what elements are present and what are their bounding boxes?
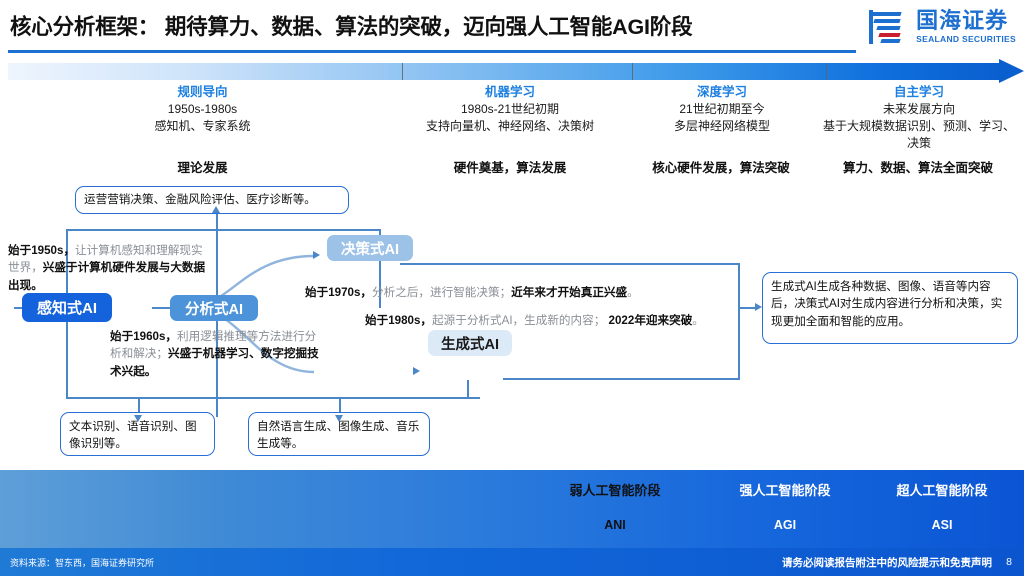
timeline-name-3: 自主学习 [820, 84, 1018, 101]
branch-curves-icon [186, 242, 376, 412]
logo-text-en: SEALAND SECURITIES [916, 35, 1016, 44]
timeline-bold-0: 理论发展 [95, 157, 310, 176]
note-analytic-ai: 始于1960s，利用逻辑推理等方法进行分析和解决；兴盛于机器学习、数字挖掘技术兴… [110, 328, 325, 380]
stage-abbr-0: ANI [520, 517, 710, 533]
logo-text-cn: 国海证券 [916, 10, 1016, 32]
timeline-column-2: 深度学习 21世纪初期至今 多层神经网络模型 [627, 84, 817, 135]
page-title: 核心分析框架： 期待算力、数据、算法的突破，迈向强人工智能AGI阶段 [10, 10, 692, 41]
node-generative-ai[interactable]: 生成式AI [428, 330, 512, 356]
arrow-up-icon [212, 206, 220, 213]
timeline-desc-3: 基于大规模数据识别、预测、学习、决策 [820, 118, 1018, 152]
timeline-tick-1 [402, 63, 403, 80]
arrow-down-icon [134, 415, 142, 422]
timeline-arrow-head-icon [999, 59, 1024, 83]
node-label: 生成式AI [441, 333, 499, 354]
timeline-bold-1: 硬件奠基，算法发展 [395, 157, 625, 176]
timeline-name-2: 深度学习 [627, 84, 817, 101]
note-perceptive-ai: 始于1950s，让计算机感知和理解现实世界，兴盛于计算机硬件发展与大数据出现。 [8, 242, 213, 294]
logo-mark-icon [869, 8, 909, 46]
arrow-right-icon [413, 367, 420, 375]
connector-line [467, 380, 469, 398]
timeline-tick-3 [826, 63, 827, 80]
note-bold-1: 始于1970s， [305, 286, 372, 299]
timeline-desc-1: 支持向量机、神经网络、决策树 [395, 118, 625, 135]
page-footer: 资料来源：智东西，国海证券研究所 请务必阅读报告附注中的风险提示和免责声明 8 [0, 548, 1024, 576]
footer-source: 资料来源：智东西，国海证券研究所 [10, 556, 154, 569]
note-bold-1: 始于1950s， [8, 244, 75, 257]
callout-text: 文本识别、语音识别、图像识别等。 [69, 420, 197, 450]
callout-right-synergy: 生成式AI生成各种数据、图像、语音等内容后，决策式AI对生成内容进行分析和决策，… [762, 272, 1018, 344]
note-gray-2: 。 [627, 286, 639, 299]
arrow-right-icon [755, 303, 762, 311]
stage-column-2: 超人工智能阶段 ASI [862, 483, 1022, 533]
stage-name-2: 超人工智能阶段 [862, 483, 1022, 500]
slide-page: 核心分析框架： 期待算力、数据、算法的突破，迈向强人工智能AGI阶段 国海证券 … [0, 0, 1024, 576]
ai-framework-diagram: 感知式AI 分析式AI 决策式AI 生成式AI 运营营销决策、金融风险评估、医疗… [0, 180, 1024, 470]
node-analytic-ai[interactable]: 分析式AI [170, 295, 258, 321]
stage-name-1: 强人工智能阶段 [700, 483, 870, 500]
stage-name-0: 弱人工智能阶段 [520, 483, 710, 500]
note-bold-1: 始于1960s， [110, 330, 177, 343]
arrow-right-icon [313, 251, 320, 259]
stage-abbr-2: ASI [862, 517, 1022, 533]
note-decision-ai: 始于1970s，分析之后，进行智能决策；近年来才开始真正兴盛。 [305, 284, 745, 301]
node-label: 分析式AI [185, 298, 243, 319]
connector-line [66, 229, 381, 231]
timeline-era-1: 1980s-21世纪初期 [395, 101, 625, 118]
sealand-logo: 国海证券 SEALAND SECURITIES [869, 8, 1016, 46]
arrow-down-icon [335, 415, 343, 422]
node-label: 感知式AI [37, 297, 97, 318]
timeline-era-3: 未来发展方向 [820, 101, 1018, 118]
footer-disclaimer: 请务必阅读报告附注中的风险提示和免责声明 [782, 555, 992, 570]
timeline-name-0: 规则导向 [95, 84, 310, 101]
timeline-era-2: 21世纪初期至今 [627, 101, 817, 118]
note-gray-1: 分析之后，进行智能决策； [372, 286, 511, 299]
connector-line [503, 378, 740, 380]
note-bold-1: 始于1980s， [365, 314, 432, 327]
timeline-desc-0: 感知机、专家系统 [95, 118, 310, 135]
node-decision-ai[interactable]: 决策式AI [327, 235, 413, 261]
timeline-bold-2: 核心硬件发展，算法突破 [622, 157, 820, 176]
note-gray-2: 。 [692, 314, 704, 327]
callout-text: 生成式AI生成各种数据、图像、语音等内容后，决策式AI对生成内容进行分析和决策，… [771, 280, 1002, 328]
timeline-arrow-body [8, 63, 1001, 80]
callout-text: 自然语言生成、图像生成、音乐生成等。 [257, 420, 419, 450]
note-bold-2: 近年来才开始真正兴盛 [511, 286, 627, 299]
stage-column-1: 强人工智能阶段 AGI [700, 483, 870, 533]
note-bold-2: 2022年迎来突破 [609, 314, 693, 327]
timeline-tick-2 [632, 63, 633, 80]
connector-line [400, 263, 740, 265]
timeline-desc-2: 多层神经网络模型 [627, 118, 817, 135]
stage-abbr-1: AGI [700, 517, 870, 533]
timeline-arrow-banner [8, 63, 1016, 80]
timeline-era-0: 1950s-1980s [95, 101, 310, 118]
node-label: 决策式AI [341, 238, 399, 259]
timeline-column-3: 自主学习 未来发展方向 基于大规模数据识别、预测、学习、决策 [820, 84, 1018, 152]
node-perceptive-ai[interactable]: 感知式AI [22, 293, 112, 322]
timeline-name-1: 机器学习 [395, 84, 625, 101]
note-generative-ai: 始于1980s，起源于分析式AI，生成新的内容； 2022年迎来突破。 [365, 312, 765, 329]
callout-text: 运营营销决策、金融风险评估、医疗诊断等。 [84, 191, 316, 208]
note-gray-1: 起源于分析式AI，生成新的内容； [432, 314, 609, 327]
timeline-bold-3: 算力、数据、算法全面突破 [818, 157, 1018, 176]
stage-column-0: 弱人工智能阶段 ANI [520, 483, 710, 533]
timeline-column-0: 规则导向 1950s-1980s 感知机、专家系统 [95, 84, 310, 135]
footer-page-number: 8 [1006, 556, 1012, 568]
header-divider [8, 50, 856, 53]
ai-stage-band: 弱人工智能阶段 ANI 强人工智能阶段 AGI 超人工智能阶段 ASI [0, 470, 1024, 548]
timeline-column-1: 机器学习 1980s-21世纪初期 支持向量机、神经网络、决策树 [395, 84, 625, 135]
